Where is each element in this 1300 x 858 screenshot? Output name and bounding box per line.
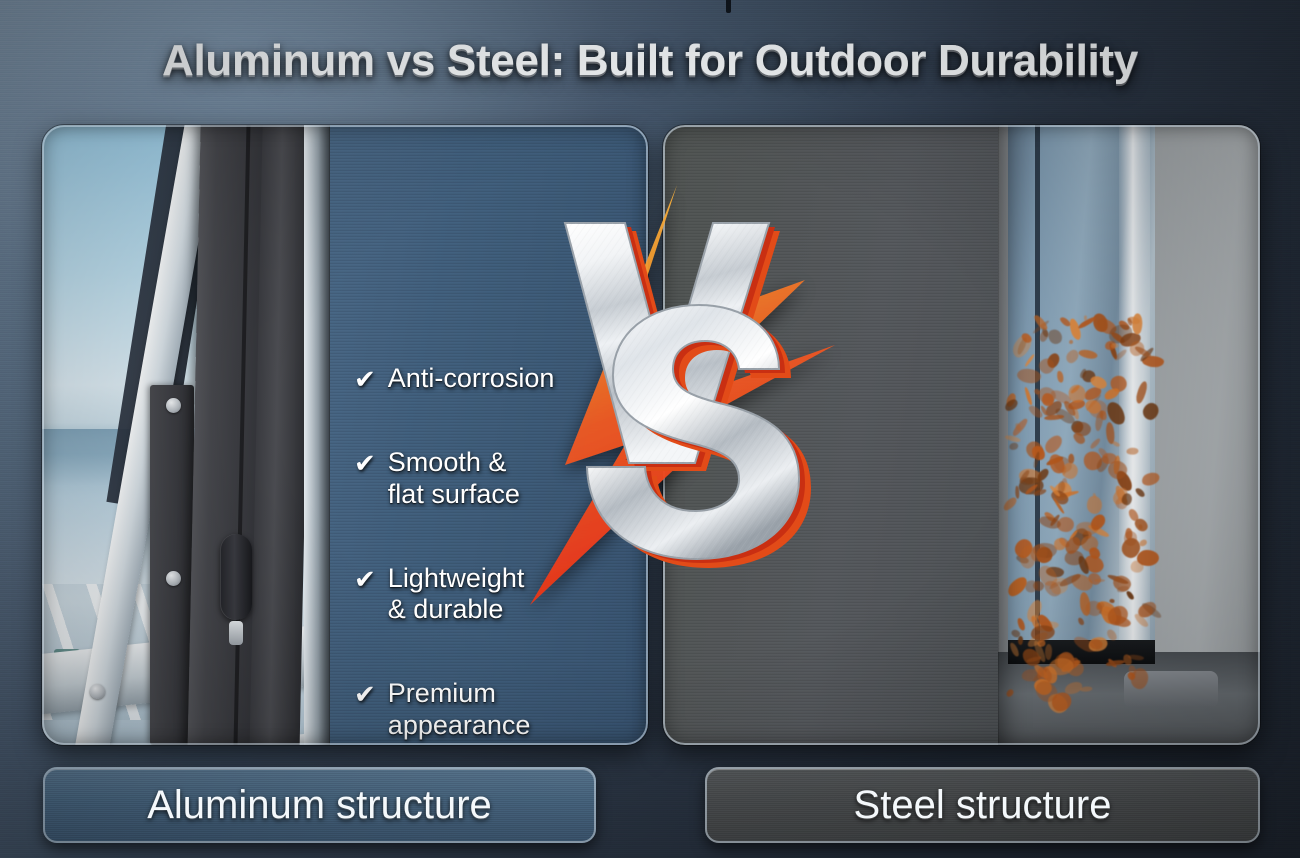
feature-text: Premium appearance bbox=[388, 678, 531, 742]
rust-blotch bbox=[1132, 313, 1142, 334]
photo-lock-cylinder bbox=[229, 621, 243, 645]
rust-blotch bbox=[1137, 550, 1159, 566]
photo-bolt bbox=[166, 398, 181, 413]
vs-emblem: VS bbox=[505, 195, 835, 665]
infographic-canvas: Aluminum vs Steel: Built for Outdoor Dur… bbox=[0, 0, 1300, 858]
steel-photo bbox=[998, 125, 1260, 745]
photo-door-handle bbox=[220, 534, 252, 620]
feature-text: Smooth & flat surface bbox=[388, 447, 520, 511]
photo-dark-stile bbox=[150, 385, 194, 745]
rust-blotch bbox=[1094, 579, 1105, 582]
photo-bolt bbox=[90, 684, 105, 699]
aluminum-structure-label[interactable]: Aluminum structure bbox=[43, 767, 596, 843]
rust-blotch bbox=[1068, 340, 1073, 345]
feature-item: ✔Premium appearance bbox=[354, 678, 628, 742]
rust-blotch bbox=[1127, 447, 1139, 454]
page-title: Aluminum vs Steel: Built for Outdoor Dur… bbox=[0, 36, 1300, 86]
photo-bright-edge bbox=[304, 125, 330, 745]
check-icon: ✔ bbox=[354, 566, 376, 592]
aluminum-structure-text: Aluminum structure bbox=[147, 783, 492, 828]
steel-structure-text: Steel structure bbox=[854, 783, 1112, 828]
steel-structure-label[interactable]: Steel structure bbox=[705, 767, 1260, 843]
check-icon: ✔ bbox=[354, 450, 376, 476]
aluminum-photo bbox=[42, 125, 330, 745]
rust-blotch bbox=[1109, 598, 1115, 603]
top-edge-tick-mark bbox=[726, 0, 731, 13]
check-icon: ✔ bbox=[354, 681, 376, 707]
feature-text: Lightweight & durable bbox=[388, 563, 525, 627]
check-icon: ✔ bbox=[354, 366, 376, 392]
